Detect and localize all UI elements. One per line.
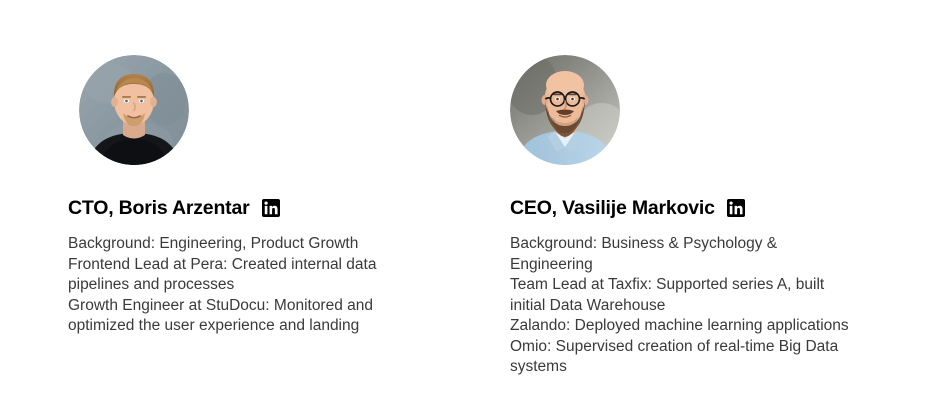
profile-bio-cto: Background: Engineering, Product Growth … bbox=[68, 234, 413, 337]
profile-name-row-cto: CTO, Boris Arzentar bbox=[68, 196, 280, 220]
profile-name-row-ceo: CEO, Vasilije Markovic bbox=[510, 196, 745, 220]
profile-bio-ceo: Background: Business & Psychology & Engi… bbox=[510, 234, 860, 378]
page-title-cto: CTO, Boris Arzentar bbox=[68, 196, 250, 220]
team-profiles-section: CTO, Boris Arzentar Background: Engineer… bbox=[0, 0, 948, 412]
profile-photo-vasilije bbox=[510, 55, 620, 165]
profile-photo-boris bbox=[79, 55, 189, 165]
linkedin-icon[interactable] bbox=[262, 199, 280, 217]
linkedin-icon[interactable] bbox=[727, 199, 745, 217]
page-title-ceo: CEO, Vasilije Markovic bbox=[510, 196, 715, 220]
